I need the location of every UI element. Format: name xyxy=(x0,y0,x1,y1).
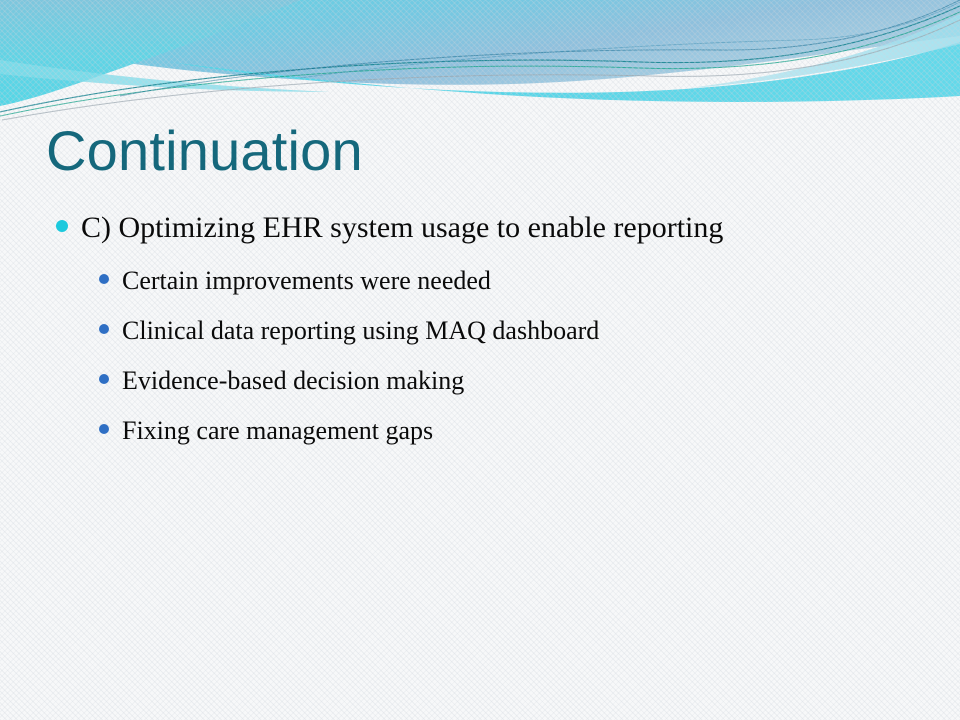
list-item-label: Clinical data reporting using MAQ dashbo… xyxy=(122,308,599,354)
page-title: Continuation xyxy=(46,118,363,183)
list-item: Clinical data reporting using MAQ dashbo… xyxy=(0,308,960,354)
list-item: Evidence-based decision making xyxy=(0,358,960,404)
list-item: C) Optimizing EHR system usage to enable… xyxy=(0,206,960,250)
disc-bullet-icon xyxy=(99,324,109,334)
bullet-list: C) Optimizing EHR system usage to enable… xyxy=(0,206,960,458)
list-item: Certain improvements were needed xyxy=(0,258,960,304)
disc-bullet-icon xyxy=(56,220,68,232)
slide-content: Continuation C) Optimizing EHR system us… xyxy=(0,0,960,720)
disc-bullet-icon xyxy=(99,274,109,284)
list-item-label: Fixing care management gaps xyxy=(122,408,433,454)
list-item: Fixing care management gaps xyxy=(0,408,960,454)
list-item-label: Certain improvements were needed xyxy=(122,258,491,304)
list-item-label: Evidence-based decision making xyxy=(122,358,464,404)
disc-bullet-icon xyxy=(99,424,109,434)
list-item-label: C) Optimizing EHR system usage to enable… xyxy=(81,206,723,250)
disc-bullet-icon xyxy=(99,374,109,384)
presentation-slide: Continuation C) Optimizing EHR system us… xyxy=(0,0,960,720)
